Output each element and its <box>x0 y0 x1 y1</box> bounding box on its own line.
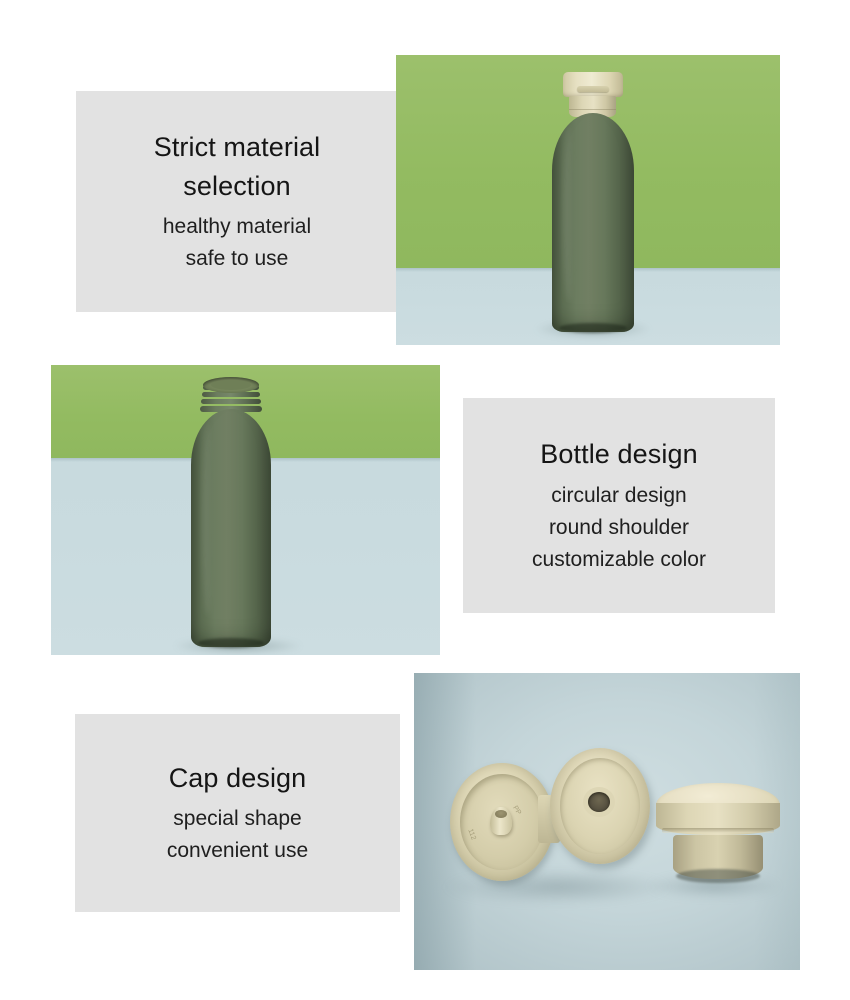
closed-cap-base <box>676 869 760 883</box>
caption-sub-cap-line2: convenient use <box>167 835 308 867</box>
caption-sub-material-line1: healthy material <box>163 211 311 243</box>
flip-cap-thumb-tab <box>577 86 609 92</box>
caption-heading-material-line2: selection <box>112 167 362 205</box>
caption-panel-cap: Cap design special shape convenient use <box>75 714 400 912</box>
caption-panel-bottle: Bottle design circular design round shou… <box>463 398 775 613</box>
caption-heading-material-line1: Strict material <box>112 128 362 166</box>
dispensing-orifice <box>588 792 610 812</box>
cap-drop-shadow <box>442 869 672 905</box>
caption-sub-bottle-line1: circular design <box>551 480 686 512</box>
caption-heading-bottle: Bottle design <box>540 435 697 473</box>
caption-heading-cap: Cap design <box>169 759 307 797</box>
caption-sub-bottle-line2: round shoulder <box>549 512 689 544</box>
flip-lid-plug-hole <box>495 810 507 818</box>
bottle-body <box>191 409 271 647</box>
caption-sub-bottle-line3: customizable color <box>532 544 706 576</box>
neck-thread-ring <box>201 399 261 404</box>
flip-cap-lid <box>563 72 623 97</box>
caps-photo: PP 112 <box>414 673 800 970</box>
bottle-base <box>559 323 627 333</box>
bottle-neck-bore <box>211 380 251 390</box>
caption-sub-material-line2: safe to use <box>186 243 289 275</box>
bottle-neck-opening <box>203 377 259 393</box>
cap-neck-line <box>569 109 616 110</box>
bottle-base <box>198 638 264 648</box>
flip-lid-plug <box>490 807 512 835</box>
bottle-body <box>552 113 634 332</box>
capped-bottle-photo <box>396 55 780 345</box>
uncapped-bottle-photo <box>51 365 440 655</box>
cap-body-disc <box>550 748 650 864</box>
caption-sub-cap-line1: special shape <box>173 803 301 835</box>
closed-cap-groove <box>662 828 774 833</box>
caption-panel-material: Strict material selection healthy materi… <box>76 91 398 312</box>
